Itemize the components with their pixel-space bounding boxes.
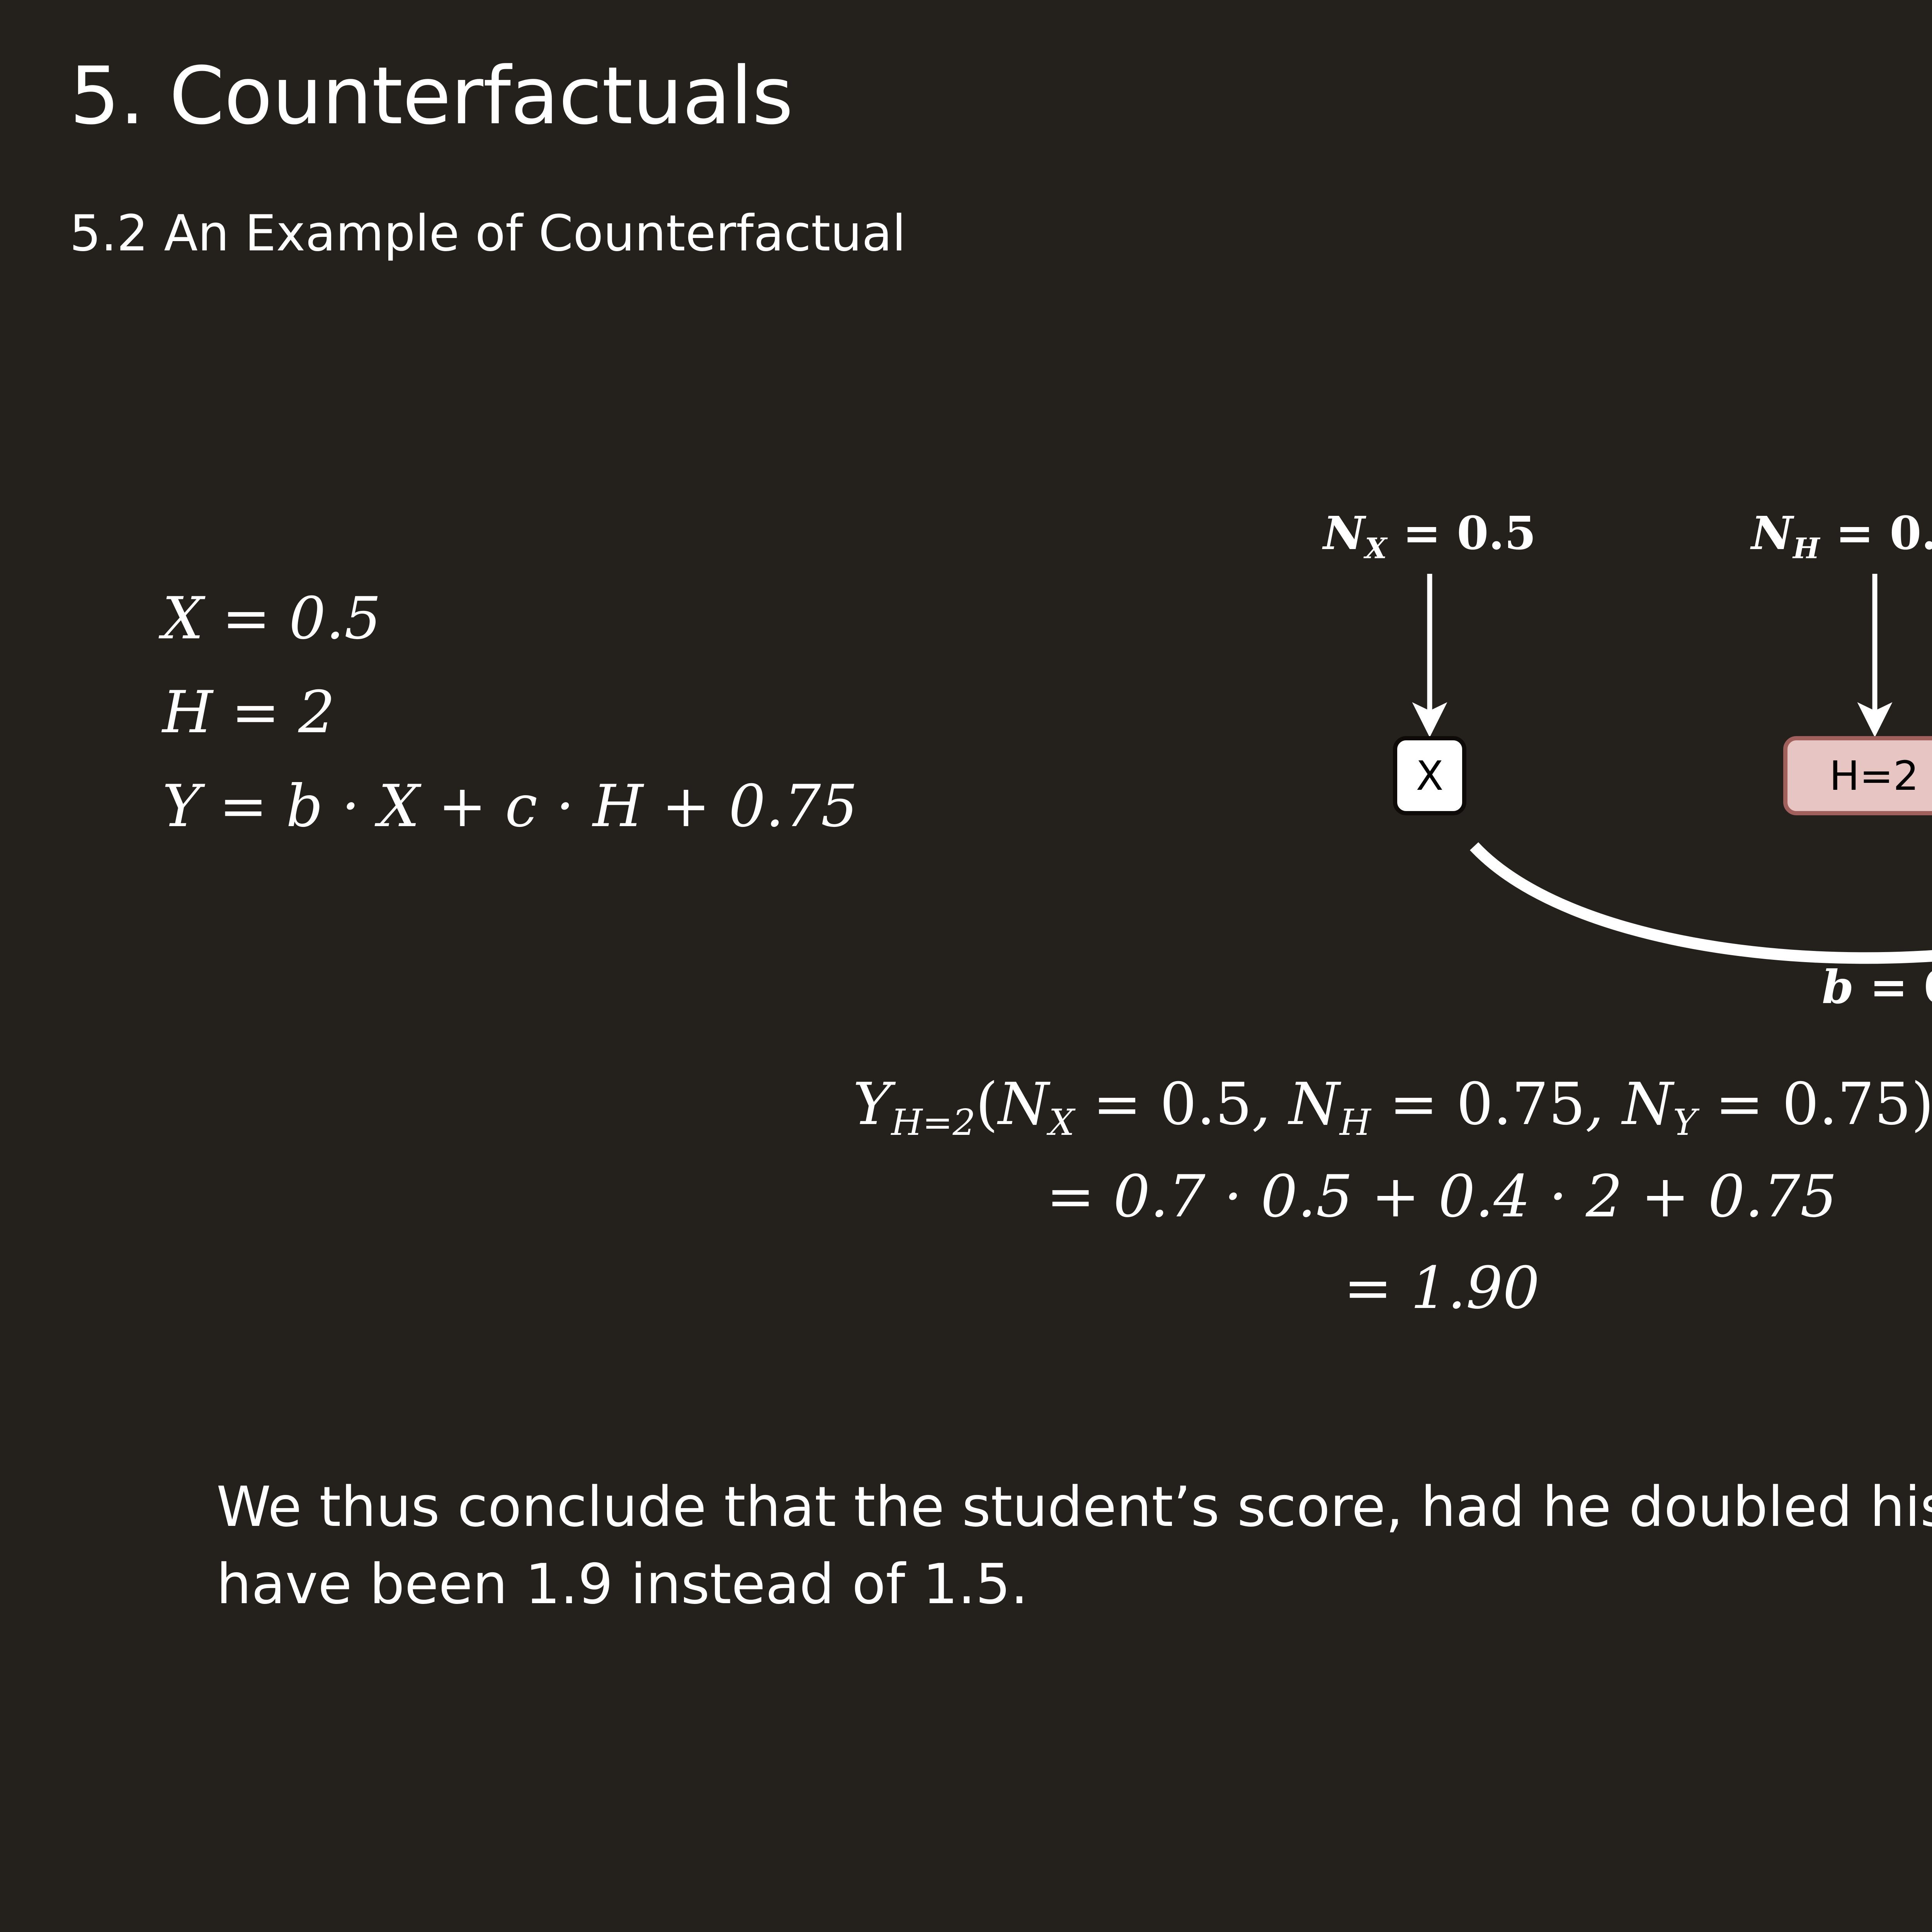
page-subtitle: 5.2 An Example of Counterfactual — [70, 205, 906, 262]
equation-h: H = 2 — [162, 666, 1090, 760]
counterfactual-derivation: YH=2(NX = 0.5, NH = 0.75, NY = 0.75) = 0… — [0, 1059, 1932, 1334]
conclusion-text: We thus conclude that the student’s scor… — [216, 1468, 1932, 1623]
equation-y: Y = b · X + c · H + 0.75 — [162, 760, 1090, 854]
model-equations: X = 0.5 H = 2 Y = b · X + c · H + 0.75 — [162, 572, 1090, 854]
arrow-x-to-y — [1474, 837, 1932, 958]
causal-diagram: NX = 0.5 NH = 0.75 NY = 0.75 c = 0.4 b =… — [1260, 506, 1932, 1032]
derivation-line-2: = 0.7 · 0.5 + 0.4 · 2 + 0.75 — [0, 1151, 1932, 1243]
edge-label-b: b = 0.7 — [1822, 960, 1932, 1014]
node-h[interactable]: H=2 — [1783, 736, 1932, 815]
page-title: 5. Counterfactuals — [70, 50, 793, 142]
derivation-line-1: YH=2(NX = 0.5, NH = 0.75, NY = 0.75) — [0, 1059, 1932, 1151]
node-x[interactable]: X — [1393, 736, 1466, 815]
equation-x: X = 0.5 — [162, 572, 1090, 666]
derivation-line-3: = 1.90 — [0, 1243, 1932, 1334]
